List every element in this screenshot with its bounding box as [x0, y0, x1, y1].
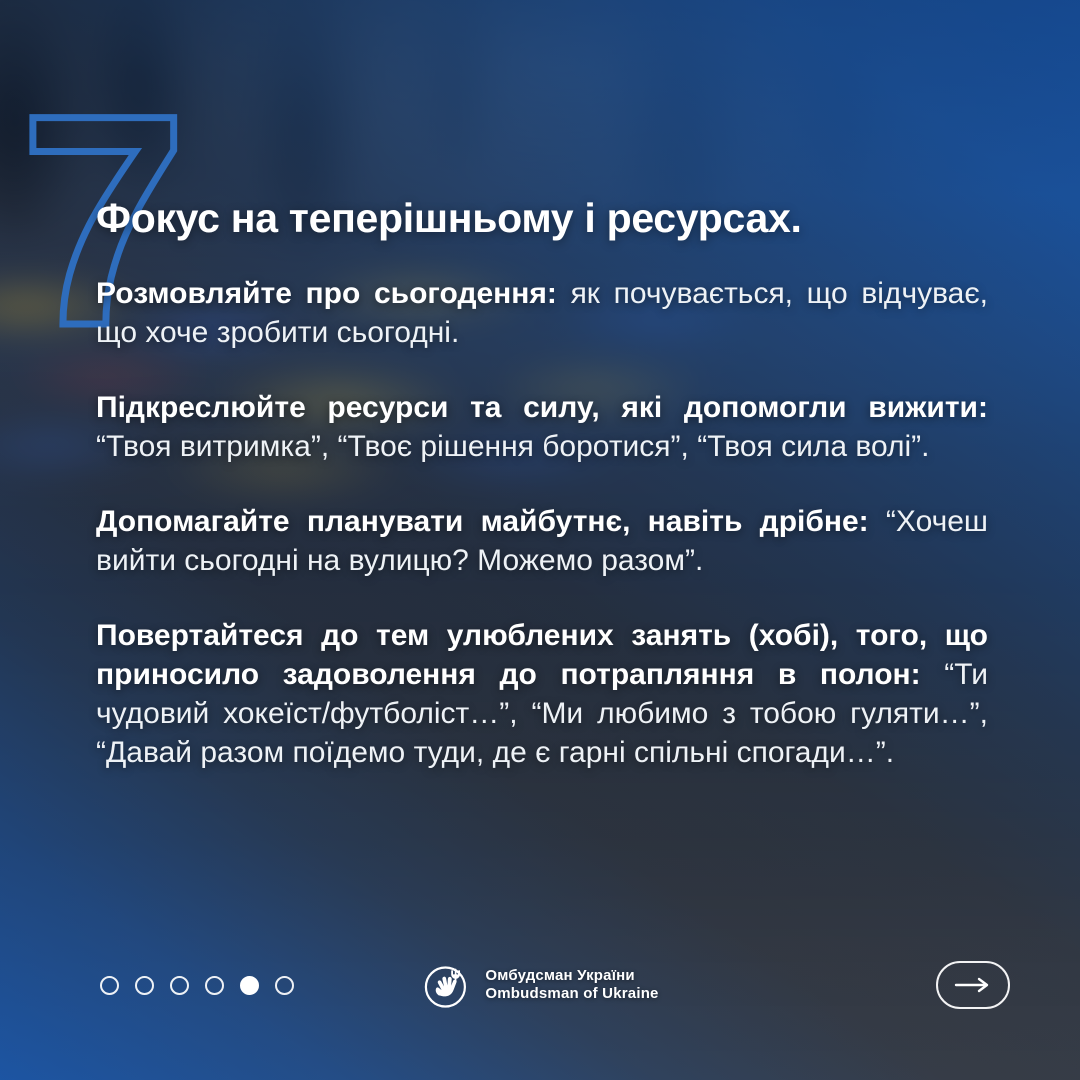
- paragraph-4-lead: Повертайтеся до тем улюблених занять (хо…: [96, 619, 988, 691]
- slide-card: 7 Фокус на теперішньому і ресурсах. Розм…: [0, 0, 1080, 1080]
- pagination-dot-6[interactable]: [275, 976, 294, 995]
- brand-logo-line-en: Ombudsman of Ukraine: [485, 985, 658, 1003]
- footer: Омбудсман України Ombudsman of Ukraine: [0, 952, 1080, 1018]
- paragraph-4: Повертайтеся до тем улюблених занять (хо…: [96, 616, 988, 772]
- next-slide-button[interactable]: [936, 961, 1010, 1009]
- pagination-dot-2[interactable]: [135, 976, 154, 995]
- paragraph-3-lead: Допомагайте планувати майбутнє, навіть д…: [96, 505, 869, 538]
- paragraph-1: Розмовляйте про сьогодення: як почуваєть…: [96, 274, 988, 352]
- brand-logo-line-uk: Омбудсман України: [485, 967, 658, 985]
- paragraph-2-lead: Підкреслюйте ресурси та силу, які допомо…: [96, 391, 988, 424]
- pagination-dot-1[interactable]: [100, 976, 119, 995]
- paragraph-3: Допомагайте планувати майбутнє, навіть д…: [96, 502, 988, 580]
- paragraph-1-lead: Розмовляйте про сьогодення:: [96, 277, 557, 310]
- pagination-dot-4[interactable]: [205, 976, 224, 995]
- arrow-right-icon: [954, 977, 992, 993]
- content-column: Фокус на теперішньому і ресурсах. Розмов…: [96, 196, 988, 772]
- brand-logo-text: Омбудсман України Ombudsman of Ukraine: [485, 967, 658, 1002]
- paragraph-2: Підкреслюйте ресурси та силу, які допомо…: [96, 388, 988, 466]
- pagination-dot-5[interactable]: [240, 976, 259, 995]
- brand-logo: Омбудсман України Ombudsman of Ukraine: [421, 959, 658, 1011]
- pagination-dot-3[interactable]: [170, 976, 189, 995]
- paragraph-2-body: “Твоя витримка”, “Твоє рішення боротися”…: [96, 430, 929, 463]
- pagination-dots[interactable]: [100, 976, 294, 995]
- hand-with-trident-in-circle-icon: [421, 959, 473, 1011]
- page-title: Фокус на теперішньому і ресурсах.: [96, 196, 988, 240]
